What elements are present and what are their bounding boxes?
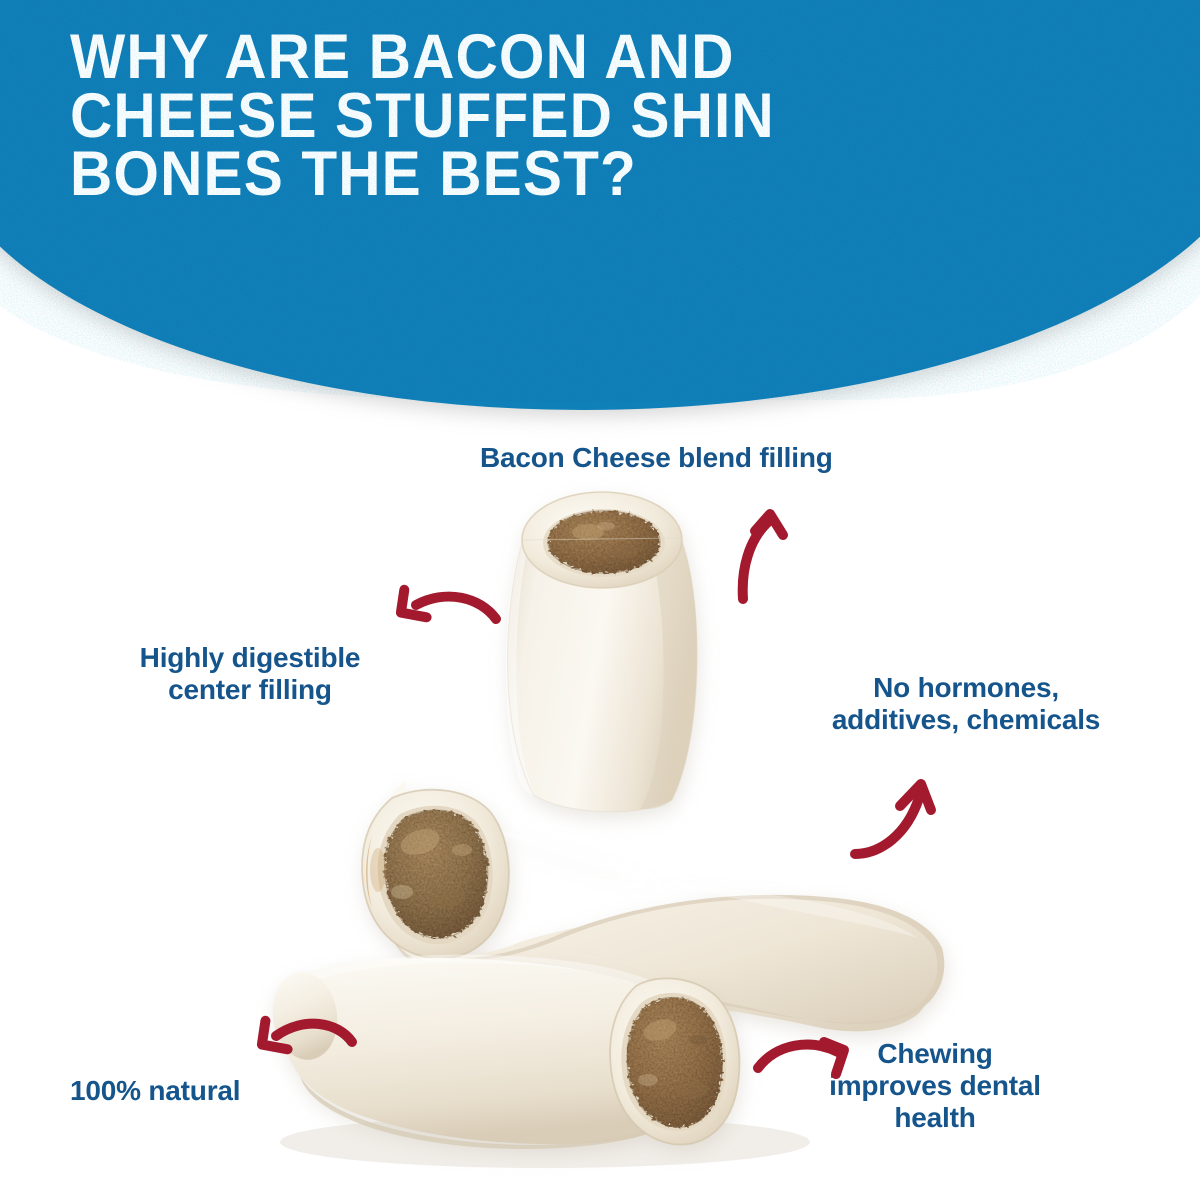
callout-text-line-1: No hormones, (873, 672, 1059, 703)
callout-text-line-2: center filling (168, 674, 332, 705)
callout-label-bacon-cheese-filling: Bacon Cheese blend filling (480, 442, 833, 474)
callout-label-no-hormones: No hormones, additives, chemicals (780, 672, 1152, 736)
callout-text: 100% natural (70, 1075, 240, 1106)
callout-label-highly-digestible: Highly digestible center filling (85, 642, 415, 706)
curved-arrow-down-left-icon (388, 583, 513, 653)
curved-arrow-up-icon (725, 495, 835, 605)
bone-upright (506, 492, 697, 812)
infographic-canvas: WHY ARE BACON AND CHEESE STUFFED SHIN BO… (0, 0, 1200, 1200)
callout-text-line-1: Chewing (877, 1038, 992, 1069)
page-title-line-3: BONES THE BEST? (70, 145, 954, 204)
page-title-line-1: WHY ARE BACON AND (70, 28, 954, 87)
callout-text: Bacon Cheese blend filling (480, 442, 833, 473)
page-title-line-2: CHEESE STUFFED SHIN (70, 87, 954, 146)
curved-arrow-down-left-icon (248, 1012, 368, 1084)
page-title: WHY ARE BACON AND CHEESE STUFFED SHIN BO… (70, 28, 1020, 204)
curved-arrow-up-right-icon (845, 758, 955, 868)
curved-arrow-right-icon (748, 1028, 868, 1094)
callout-text-line-2: additives, chemicals (832, 704, 1100, 735)
callout-label-natural: 100% natural (70, 1075, 240, 1107)
callout-text-line-3: health (894, 1102, 975, 1133)
callout-text-line-1: Highly digestible (140, 642, 361, 673)
